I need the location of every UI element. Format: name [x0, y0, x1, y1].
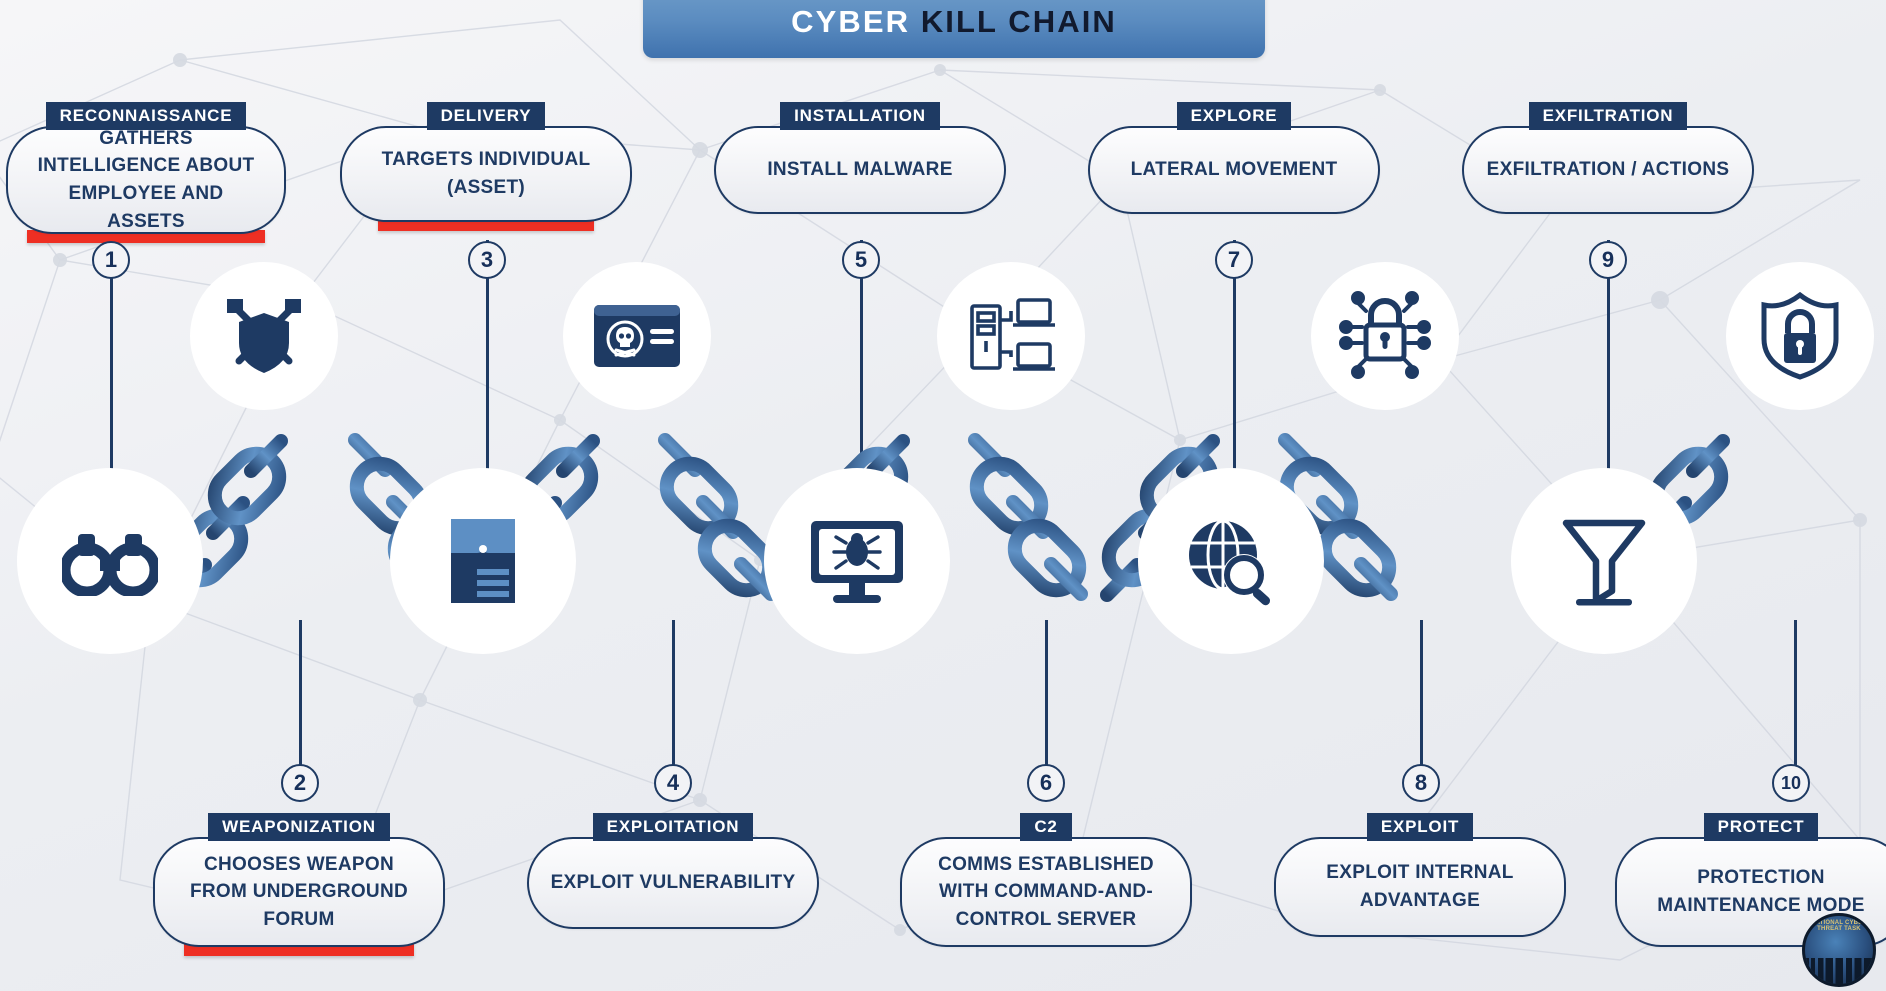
- node-icon-6[interactable]: [937, 262, 1085, 410]
- stage-number-7: 7: [1215, 241, 1253, 279]
- stage-description-2: CHOOSES WEAPON FROM UNDERGROUND FORUM: [153, 837, 445, 947]
- shield-padlock-icon: [1760, 291, 1840, 381]
- title-word-killchain: KILL CHAIN: [921, 4, 1117, 39]
- server-laptops-icon: [967, 294, 1055, 378]
- stage-number-1: 1: [92, 241, 130, 279]
- circuit-padlock-icon: [1336, 291, 1434, 381]
- stage-tab-4: EXPLOITATION: [593, 813, 754, 841]
- stage-label-7[interactable]: EXPLORE LATERAL MOVEMENT: [1088, 102, 1380, 214]
- stage-tab-1: RECONNAISSANCE: [46, 102, 247, 130]
- stage-number-6: 6: [1027, 764, 1065, 802]
- stage-description-8: EXPLOIT INTERNAL ADVANTAGE: [1274, 837, 1566, 937]
- stage-tab-9: EXFILTRATION: [1529, 102, 1688, 130]
- stage-tab-10: PROTECT: [1704, 813, 1819, 841]
- stage-tab-8: EXPLOIT: [1367, 813, 1473, 841]
- stage-label-5[interactable]: INSTALLATION INSTALL MALWARE: [714, 102, 1006, 214]
- stage-number-8: 8: [1402, 764, 1440, 802]
- stage-tab-2: WEAPONIZATION: [208, 813, 390, 841]
- infographic-canvas: CYBER KILL CHAIN RECONNAISSANCE GATHERS …: [0, 0, 1886, 991]
- stage-description-3: TARGETS INDIVIDUAL (ASSET): [340, 126, 632, 222]
- envelope-document-icon: [441, 513, 525, 609]
- node-icon-1[interactable]: [17, 468, 203, 654]
- title-word-cyber: CYBER: [791, 4, 910, 39]
- stage-number-4: 4: [654, 764, 692, 802]
- stage-label-2[interactable]: WEAPONIZATION CHOOSES WEAPON FROM UNDERG…: [153, 813, 445, 956]
- browser-skull-icon: [592, 303, 682, 369]
- node-icon-10[interactable]: [1726, 262, 1874, 410]
- funnel-icon: [1558, 513, 1650, 609]
- node-icon-3[interactable]: [390, 468, 576, 654]
- stage-description-1: GATHERS INTELLIGENCE ABOUT EMPLOYEE AND …: [6, 126, 286, 234]
- stage-number-10: 10: [1772, 764, 1810, 802]
- node-icon-2[interactable]: [190, 262, 338, 410]
- stage-description-5: INSTALL MALWARE: [714, 126, 1006, 214]
- stage-label-3[interactable]: DELIVERY TARGETS INDIVIDUAL (ASSET): [340, 102, 632, 231]
- stage-label-8[interactable]: EXPLOIT EXPLOIT INTERNAL ADVANTAGE: [1274, 813, 1566, 937]
- stage-description-6: COMMS ESTABLISHED WITH COMMAND-AND-CONTR…: [900, 837, 1192, 947]
- node-icon-7[interactable]: [1138, 468, 1324, 654]
- stage-label-6[interactable]: C2 COMMS ESTABLISHED WITH COMMAND-AND-CO…: [900, 813, 1192, 947]
- stage-tab-6: C2: [1020, 813, 1071, 841]
- globe-magnifier-icon: [1181, 513, 1281, 609]
- node-icon-5[interactable]: [764, 468, 950, 654]
- shield-swords-icon: [221, 295, 307, 377]
- monitor-bug-icon: [805, 515, 909, 607]
- stage-description-9: EXFILTRATION / ACTIONS: [1462, 126, 1754, 214]
- binoculars-icon: [62, 526, 158, 596]
- stage-label-9[interactable]: EXFILTRATION EXFILTRATION / ACTIONS: [1462, 102, 1754, 214]
- stage-number-2: 2: [281, 764, 319, 802]
- stage-label-4[interactable]: EXPLOITATION EXPLOIT VULNERABILITY: [527, 813, 819, 929]
- logo-caption: NATIONAL CYBER THREAT TASK: [1805, 920, 1873, 932]
- stage-label-1[interactable]: RECONNAISSANCE GATHERS INTELLIGENCE ABOU…: [6, 102, 286, 243]
- stage-number-3: 3: [468, 241, 506, 279]
- stage-tab-3: DELIVERY: [427, 102, 546, 130]
- stage-tab-5: INSTALLATION: [780, 102, 940, 130]
- node-icon-4[interactable]: [563, 262, 711, 410]
- stage-tab-7: EXPLORE: [1177, 102, 1292, 130]
- node-icon-8[interactable]: [1311, 262, 1459, 410]
- stage-number-5: 5: [842, 241, 880, 279]
- organization-logo: NATIONAL CYBER THREAT TASK: [1802, 913, 1876, 987]
- node-icon-9[interactable]: [1511, 468, 1697, 654]
- stage-description-4: EXPLOIT VULNERABILITY: [527, 837, 819, 929]
- page-title: CYBER KILL CHAIN: [643, 0, 1265, 58]
- stage-number-9: 9: [1589, 241, 1627, 279]
- stage-description-7: LATERAL MOVEMENT: [1088, 126, 1380, 214]
